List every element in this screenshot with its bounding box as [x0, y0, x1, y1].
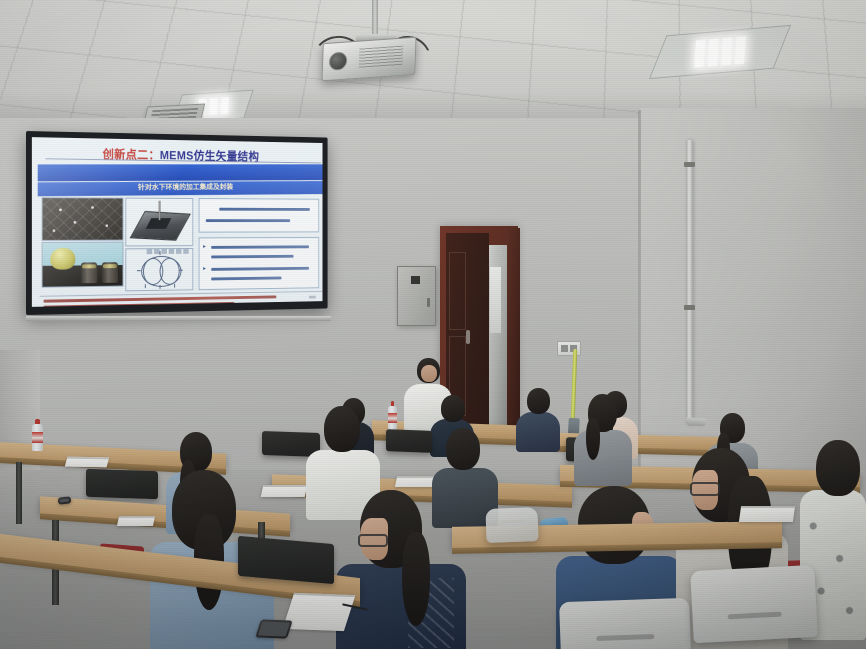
- slide-band-primary: [38, 164, 323, 181]
- bullet-icon-1: ▸: [203, 245, 207, 250]
- notebook-4: [395, 476, 437, 487]
- dimple-array-photo: [42, 197, 124, 241]
- light-switch-plate[interactable]: [557, 341, 581, 356]
- slide-textbox-1: [199, 198, 320, 233]
- slide-citation-1: [44, 295, 277, 302]
- classroom-photo: 创新点二：MEMS仿生矢量结构 针对水下环境的加工集成及封装: [0, 0, 866, 649]
- panel-latch-icon[interactable]: [427, 298, 430, 307]
- table-leg-1: [16, 462, 22, 524]
- chair-white-1[interactable]: [559, 598, 691, 649]
- screen-surface: 创新点二：MEMS仿生矢量结构 针对水下环境的加工集成及封装: [32, 137, 323, 307]
- chair-back-3[interactable]: [386, 429, 432, 453]
- presentation-slide: 创新点二：MEMS仿生矢量结构 针对水下环境的加工集成及封装: [32, 137, 323, 307]
- projector-lens-icon: [329, 51, 348, 70]
- circle-diagram: [125, 248, 193, 291]
- projector-mount-pole: [372, 0, 378, 38]
- notebook-left: [65, 457, 109, 468]
- circle-diagram-label: [147, 249, 191, 254]
- notebook-right: [739, 506, 795, 522]
- slide-band-text: 针对水下环境的加工集成及封装: [38, 181, 323, 193]
- slide-textbox-bullets: ▸ ▸: [199, 237, 320, 290]
- presenter-face: [421, 365, 437, 382]
- water-bottle: [32, 424, 43, 451]
- mems-3d-structure-drawing: [125, 198, 193, 247]
- panel-window-icon: [411, 276, 420, 284]
- chair-white-2[interactable]: [690, 565, 818, 643]
- eyeglasses-icon: [358, 534, 388, 547]
- slide-footer-separator: [40, 291, 323, 297]
- cylinder-1: [81, 262, 97, 283]
- dome-cylinder-photo: [42, 242, 124, 288]
- cylinder-2: [102, 262, 118, 283]
- wall-conduit-pipe: [686, 140, 693, 425]
- electrical-distribution-panel[interactable]: [397, 266, 436, 326]
- eyeglasses-icon-2: [690, 482, 720, 496]
- light-switch-1[interactable]: [561, 345, 568, 352]
- door-opening: [487, 245, 507, 425]
- chair-back-front[interactable]: [238, 536, 334, 584]
- conduit-foot: [686, 417, 707, 426]
- slide-page-number: [309, 296, 316, 299]
- yellow-dome: [50, 248, 75, 270]
- bullet-icon-2: ▸: [203, 267, 207, 272]
- door-panel-upper: [449, 252, 466, 330]
- smartphone[interactable]: [255, 619, 292, 638]
- student-9-front: [336, 490, 466, 649]
- chair-white-3[interactable]: [485, 507, 538, 543]
- student-2: [516, 388, 560, 450]
- slide-citation-2: [44, 302, 235, 307]
- slide-band-secondary: 针对水下环境的加工集成及封装: [38, 181, 323, 196]
- smartphone-2[interactable]: [58, 496, 72, 504]
- projection-screen: 创新点二：MEMS仿生矢量结构 针对水下环境的加工集成及封装: [26, 131, 328, 315]
- door-handle[interactable]: [466, 330, 470, 344]
- water-bottle-back: [388, 406, 397, 430]
- doorway-light: [490, 267, 501, 333]
- student-7b: [574, 394, 632, 482]
- notebook-front: [283, 593, 356, 631]
- screen-bottom-rail: [26, 316, 331, 321]
- ceiling-projector: [321, 37, 416, 82]
- chair-back-1[interactable]: [86, 469, 158, 500]
- projector-vents: [359, 46, 404, 69]
